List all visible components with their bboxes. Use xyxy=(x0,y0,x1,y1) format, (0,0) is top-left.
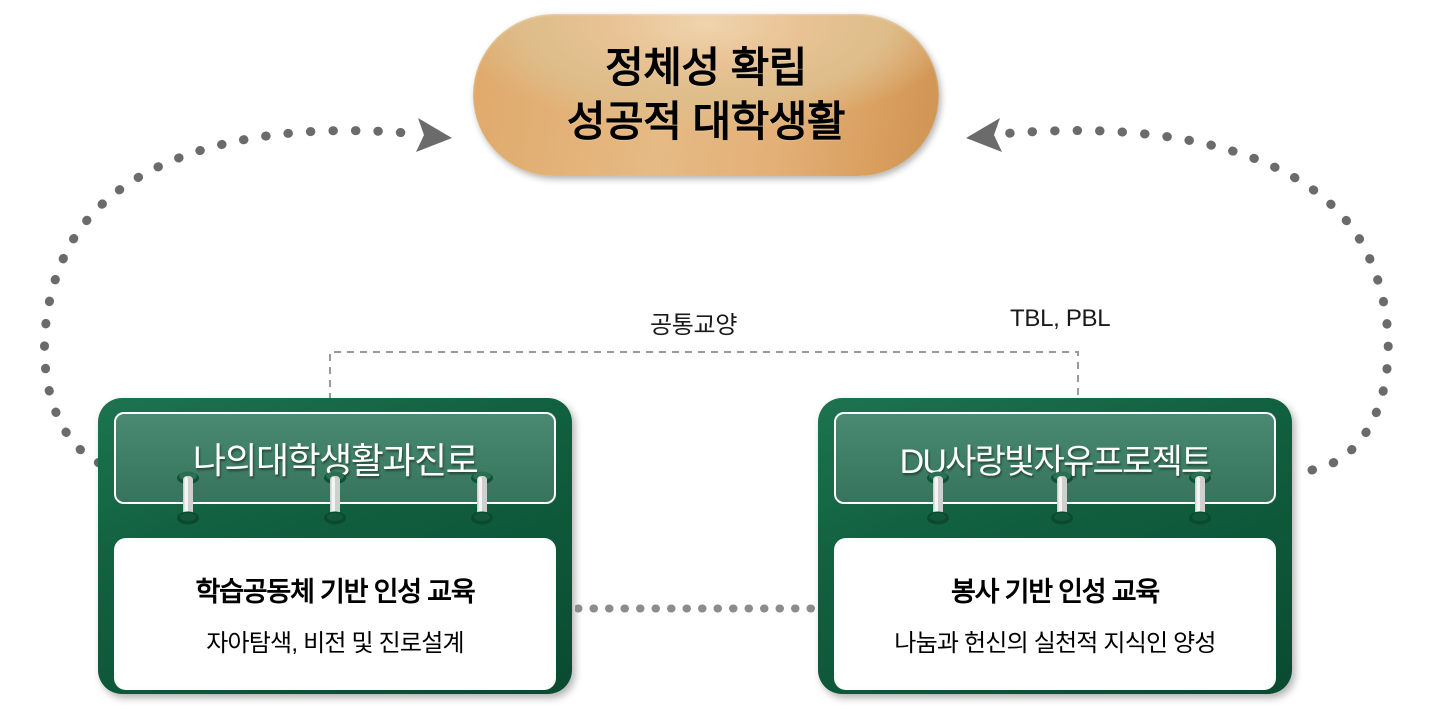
card-body-title-right: 봉사 기반 인성 교육 xyxy=(951,570,1159,609)
arrow-into-goal-left-icon xyxy=(416,118,452,152)
program-card-du-project[interactable]: DU사랑빛자유프로젝트 봉사 기반 인성 교육 xyxy=(818,398,1292,694)
card-to-card-connector xyxy=(575,604,815,613)
diagram-canvas: 정체성 확립 성공적 대학생활 공통교양 TBL, PBL 나의대학생활과진로 xyxy=(0,0,1433,720)
card-body-subtitle-left: 자아탐색, 비전 및 진로설계 xyxy=(206,623,464,658)
arrow-into-goal-right-icon xyxy=(966,118,1002,152)
goal-line-2: 성공적 대학생활 xyxy=(567,95,845,149)
card-body-title-left: 학습공동체 기반 인성 교육 xyxy=(196,570,475,609)
bracket-label-tbl-pbl: TBL, PBL xyxy=(1010,305,1110,333)
program-card-my-college-life[interactable]: 나의대학생활과진로 학습공동체 기반 인성 교육 xyxy=(98,398,572,694)
card-body-left: 학습공동체 기반 인성 교육 자아탐색, 비전 및 진로설계 xyxy=(114,538,556,690)
card-header-left: 나의대학생활과진로 xyxy=(114,412,556,504)
bracket-path xyxy=(330,352,1078,400)
card-header-right: DU사랑빛자유프로젝트 xyxy=(834,412,1276,504)
card-body-subtitle-right: 나눔과 헌신의 실천적 지식인 양성 xyxy=(894,623,1215,658)
card-body-right: 봉사 기반 인성 교육 나눔과 헌신의 실천적 지식인 양성 xyxy=(834,538,1276,690)
card-header-label-left: 나의대학생활과진로 xyxy=(193,432,478,484)
goal-line-1: 정체성 확립 xyxy=(567,41,845,95)
goal-pill-text: 정체성 확립 성공적 대학생활 xyxy=(567,41,845,149)
card-header-label-right: DU사랑빛자유프로젝트 xyxy=(900,434,1211,483)
bracket-label-common-education: 공통교양 xyxy=(650,305,737,340)
goal-pill: 정체성 확립 성공적 대학생활 xyxy=(473,14,939,176)
